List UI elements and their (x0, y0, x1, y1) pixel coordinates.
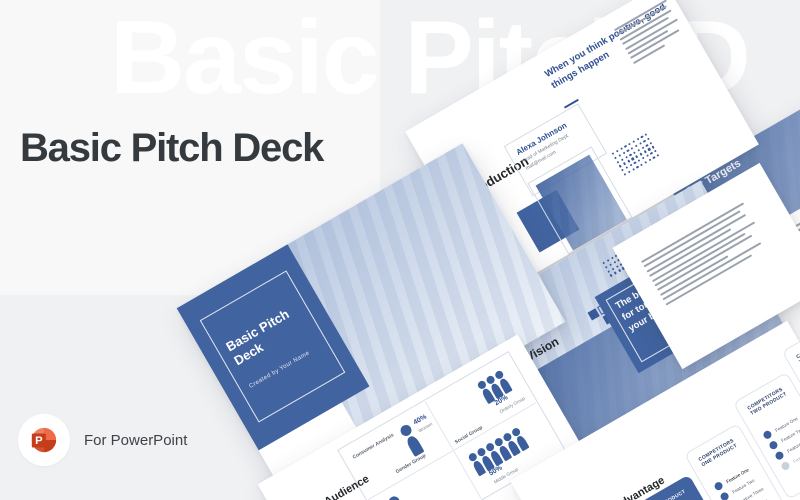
competitive-bullet-2-2 (774, 450, 785, 461)
introduction-dot-grid (612, 133, 660, 176)
powerpoint-icon: P (18, 414, 70, 466)
powerpoint-badge-label: For PowerPoint (84, 432, 187, 449)
competitive-bullet-2-1 (768, 440, 779, 451)
competitive-card-title-2: COMPETITORS TWO PRODUCT (747, 384, 791, 416)
svg-text:P: P (35, 435, 43, 447)
competitive-bullet-1-0 (713, 481, 724, 492)
introduction-body-lines (614, 0, 688, 67)
poster-canvas: Basic Pitch D Market Our Targets Introdu… (0, 0, 800, 500)
page-title: Basic Pitch Deck (20, 126, 323, 171)
competitive-bullet-2-3 (780, 461, 791, 472)
competitive-bullet-1-1 (719, 491, 730, 500)
powerpoint-glyph: P (29, 425, 59, 455)
powerpoint-badge: P For PowerPoint (18, 414, 187, 466)
competitive-card-title-1: COMPETITORS ONE PRODUCT (698, 436, 742, 468)
competitive-bullet-2-0 (762, 429, 773, 440)
